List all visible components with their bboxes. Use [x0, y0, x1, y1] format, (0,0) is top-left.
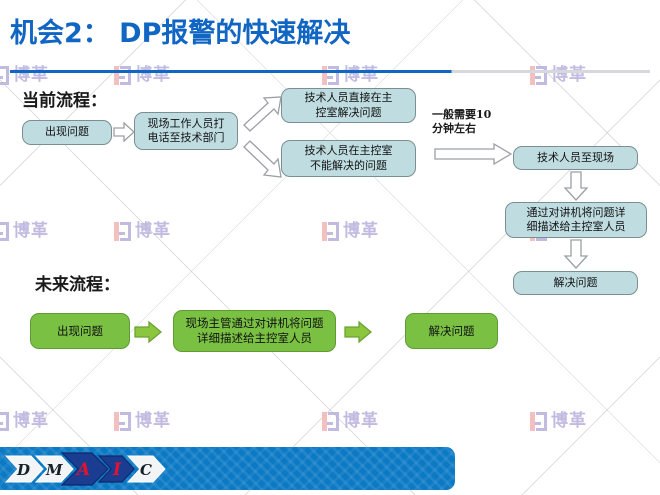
- process-box-solved-in-control-room[interactable]: 技术人员直接在主 控室解决问题: [281, 88, 416, 123]
- arrow-down-icon: [563, 239, 589, 269]
- watermark-layer: 博革 博革 博革 博革 博革 博革 博革 博革: [0, 0, 660, 495]
- bogo-logo-icon: [114, 412, 131, 431]
- watermark-label: 博革: [135, 413, 171, 430]
- bogo-logo-icon: [114, 66, 131, 85]
- title-block: 机会2： DP报警的快速解决: [10, 18, 650, 49]
- process-box-describe-via-intercom[interactable]: 通过对讲机将问题详 细描述给主控室人员: [505, 202, 647, 238]
- bogo-logo-icon: [0, 222, 9, 241]
- watermark-label: 博革: [343, 413, 379, 430]
- watermark-label: 博革: [551, 413, 587, 430]
- process-box-call-tech-dept[interactable]: 现场工作人员打 电话至技术部门: [134, 112, 238, 150]
- title-underline: [10, 70, 650, 73]
- process-box-tech-goes-onsite[interactable]: 技术人员至现场: [513, 146, 638, 170]
- watermark-logo: 博革: [0, 412, 49, 431]
- dmaic-chevrons: [4, 452, 184, 486]
- future-box-problem-occurs[interactable]: 出现问题: [30, 313, 130, 349]
- bogo-logo-icon: [530, 66, 547, 85]
- arrow-right-icon: [344, 320, 372, 344]
- watermark-logo: 博革: [322, 222, 379, 241]
- bogo-logo-icon: [322, 412, 339, 431]
- watermark-label: 博革: [13, 413, 49, 430]
- bogo-logo-icon: [0, 412, 9, 431]
- arrow-right-icon: [134, 320, 162, 344]
- dmaic-phase-indicator: D M A I C: [4, 452, 184, 486]
- watermark-label: 博革: [13, 223, 49, 240]
- watermark-logo: 博革: [114, 66, 171, 85]
- watermark-logo: 博革: [0, 222, 49, 241]
- future-box-problem-solved[interactable]: 解决问题: [405, 313, 498, 349]
- watermark-logo: 博革: [530, 412, 587, 431]
- watermark-logo: 博革: [322, 66, 379, 85]
- watermark-logo: 博革: [114, 222, 171, 241]
- process-box-problem-occurs[interactable]: 出现问题: [22, 120, 112, 145]
- current-process-label: 当前流程：: [22, 86, 107, 111]
- page-title: 机会2： DP报警的快速解决: [10, 18, 650, 49]
- duration-note: 一般需要10 分钟左右: [432, 108, 532, 137]
- watermark-logo: 博革: [322, 412, 379, 431]
- bogo-logo-icon: [114, 222, 131, 241]
- slide-canvas: 博革 博革 博革 博革 博革 博革 博革 博革: [0, 0, 660, 495]
- process-box-unsolved-in-control-room[interactable]: 技术人员在主控室 不能解决的问题: [281, 140, 416, 177]
- bogo-logo-icon: [322, 66, 339, 85]
- bogo-logo-icon: [322, 222, 339, 241]
- watermark-label: 博革: [343, 223, 379, 240]
- process-box-problem-solved[interactable]: 解决问题: [513, 271, 638, 295]
- arrow-branch-icon: [242, 95, 284, 183]
- bogo-logo-icon: [530, 412, 547, 431]
- background-diamond-pattern: [0, 0, 660, 495]
- watermark-logo: 博革: [530, 66, 587, 85]
- arrow-right-icon: [113, 121, 135, 143]
- watermark-logo: 博革: [114, 412, 171, 431]
- watermark-label: 博革: [135, 223, 171, 240]
- future-box-supervisor-intercom[interactable]: 现场主管通过对讲机将问题 详细描述给主控室人员: [173, 310, 336, 352]
- arrow-right-long-icon: [434, 143, 512, 165]
- arrow-down-icon: [563, 171, 589, 201]
- future-process-label: 未来流程：: [35, 270, 120, 295]
- watermark-logo: 博革: [0, 66, 49, 85]
- bogo-logo-icon: [0, 66, 9, 85]
